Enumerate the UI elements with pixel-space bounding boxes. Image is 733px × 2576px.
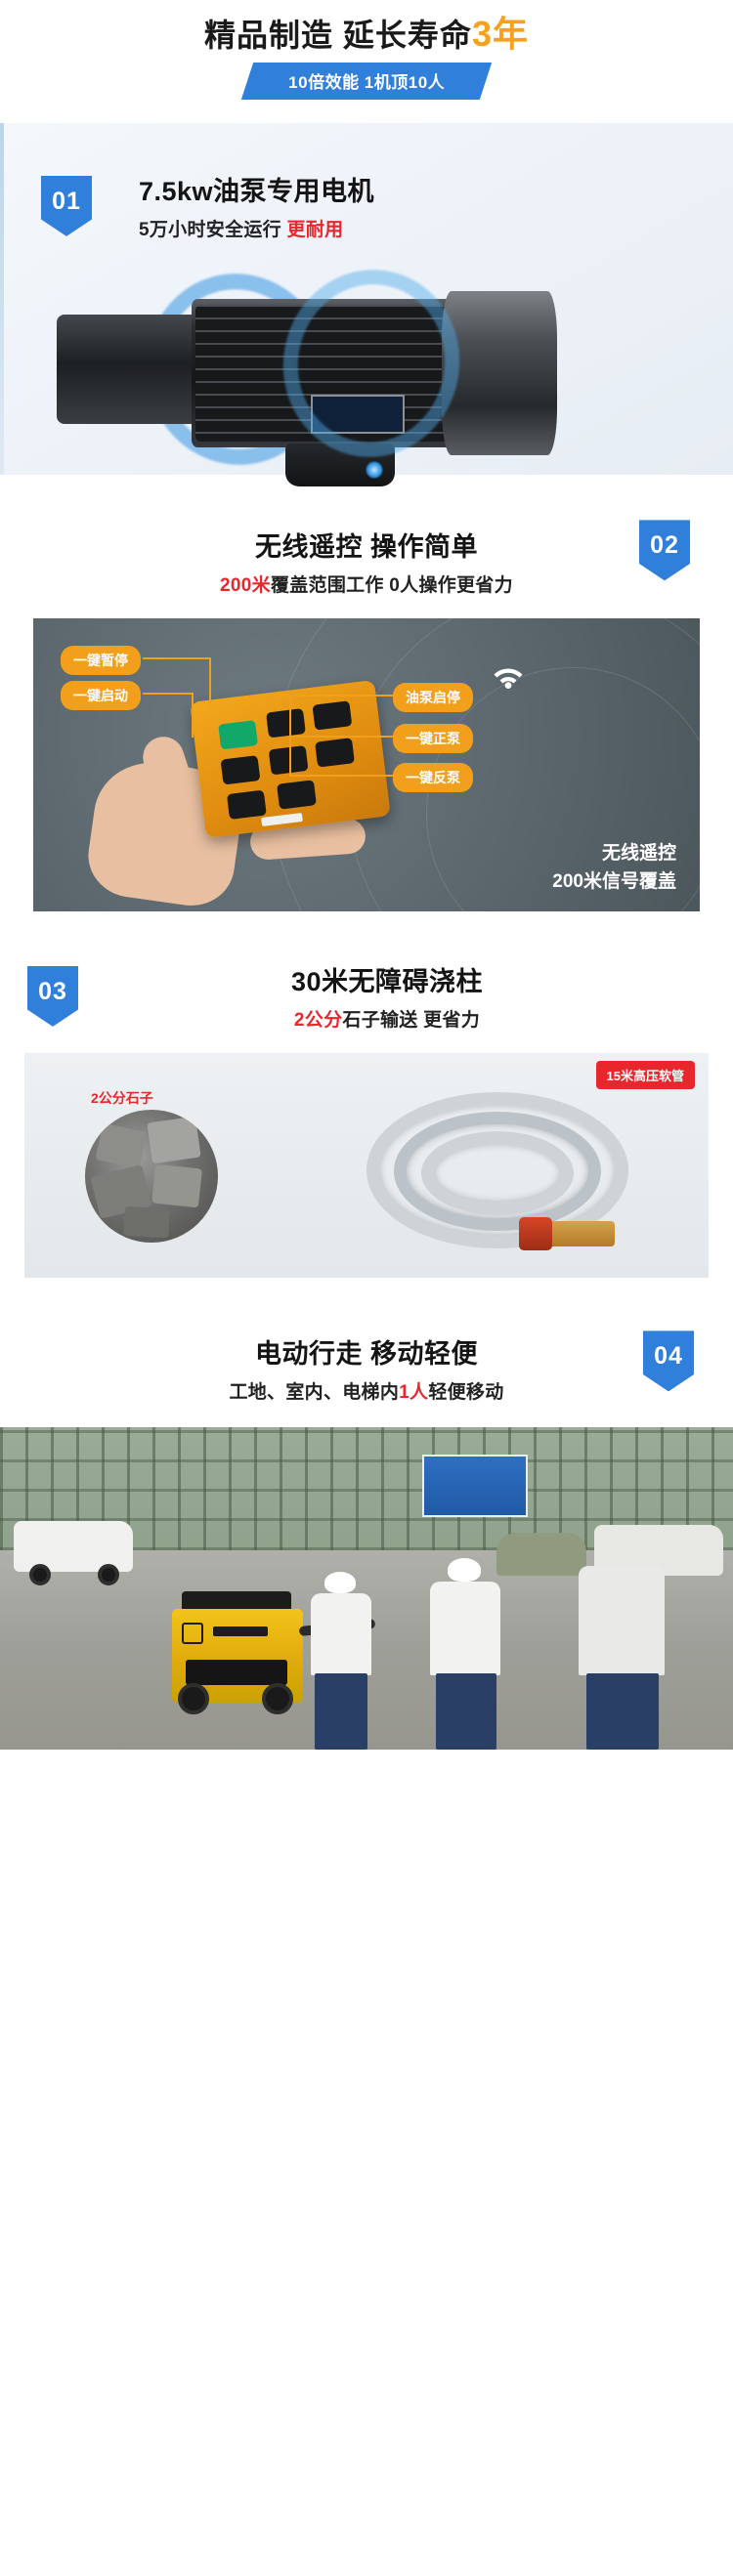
wifi-icon xyxy=(489,661,528,701)
worker-right-legs xyxy=(436,1673,496,1750)
callout-forward-pump: 一键正泵 xyxy=(393,724,473,753)
section-03-subtitle-accent: 2公分 xyxy=(294,1010,342,1031)
leader-v-right-group xyxy=(289,695,291,777)
remote-button-start[interactable] xyxy=(218,720,258,749)
section-04-subtitle-accent: 1人 xyxy=(399,1382,428,1403)
section-02-caption: 无线遥控 200米信号覆盖 xyxy=(552,840,676,896)
worker-helmet-center xyxy=(324,1572,356,1593)
hose-coupler-red xyxy=(519,1217,552,1250)
section-04-badge: 04 xyxy=(643,1330,694,1391)
callout-reverse-pump: 一键反泵 xyxy=(393,763,473,792)
section-03-text: 30米无障碍浇柱 2公分石子输送 更省力 xyxy=(119,960,733,1032)
pump-housing xyxy=(57,315,203,424)
section-02-badge-wrap: 02 xyxy=(639,520,690,580)
header-banner-wrap: 10倍效能 1机顶10人 xyxy=(0,63,733,100)
leader-line-pause xyxy=(143,657,211,659)
stone-4 xyxy=(151,1164,202,1208)
machine-warning-icon xyxy=(182,1623,203,1644)
worker-far-right-torso xyxy=(579,1566,665,1675)
stone-1 xyxy=(96,1123,148,1169)
section-01-head: 01 7.5kw油泵专用电机 5万小时安全运行 更耐用 xyxy=(0,123,733,241)
tag-stone-size: 2公分石子 xyxy=(91,1088,153,1108)
machine-label-strip xyxy=(213,1626,268,1636)
section-02: 02 无线遥控 操作简单 200米覆盖范围工作 0人操作更省力 xyxy=(0,526,733,911)
remote-button-pause[interactable] xyxy=(221,755,261,784)
leader-line-start xyxy=(143,693,194,695)
section-02-number: 02 xyxy=(650,531,679,560)
page-header: 精品制造 延长寿命3年 10倍效能 1机顶10人 xyxy=(0,0,733,100)
section-02-subtitle: 200米覆盖范围工作 0人操作更省力 xyxy=(0,570,733,597)
worker-center-legs xyxy=(315,1673,367,1750)
worksite-photo xyxy=(0,1427,733,1750)
stone-5 xyxy=(123,1206,170,1238)
remote-button-spare-3[interactable] xyxy=(277,781,317,810)
section-04-badge-wrap: 04 xyxy=(643,1330,694,1391)
section-03-subtitle-plain: 石子输送 更省力 xyxy=(342,1010,480,1031)
section-03-title: 30米无障碍浇柱 xyxy=(119,960,655,998)
page-title-accent: 3年 xyxy=(472,14,529,54)
coiled-hose xyxy=(337,1078,679,1254)
section-02-subtitle-accent: 200米 xyxy=(220,575,271,596)
section-04-subtitle: 工地、室内、电梯内1人轻便移动 xyxy=(0,1377,733,1404)
section-04-number: 04 xyxy=(654,1342,683,1371)
worker-helmet-right xyxy=(448,1558,481,1582)
section-02-title: 无线遥控 操作简单 xyxy=(0,526,733,564)
section-01-number: 01 xyxy=(52,188,81,216)
callout-pause: 一键暂停 xyxy=(61,646,141,675)
hose-photo: 15米高压软管 2公分石子 1 2 xyxy=(24,1053,709,1278)
stone-closeup: 1 2 xyxy=(85,1110,218,1243)
remote-control-photo: 一键暂停 一键启动 油泵启停 一键正泵 一键反泵 无线遥控 200米信号覆盖 xyxy=(33,618,700,911)
section-04-subtitle-plain-2: 轻便移动 xyxy=(428,1382,503,1403)
section-03-subtitle: 2公分石子输送 更省力 xyxy=(119,1005,655,1032)
section-03-number: 03 xyxy=(38,978,67,1006)
leader-line-forward xyxy=(289,736,397,738)
callout-pump-toggle: 油泵启停 xyxy=(393,683,473,712)
parked-van-left xyxy=(14,1521,133,1572)
hose-coil-inner xyxy=(421,1131,574,1215)
stone-2 xyxy=(147,1117,200,1164)
section-04-subtitle-plain-1: 工地、室内、电梯内 xyxy=(229,1382,399,1403)
leader-line-reverse xyxy=(289,775,397,777)
remote-button-spare-1[interactable] xyxy=(315,739,355,768)
motor-illustration xyxy=(0,270,733,475)
section-02-caption-line2: 200米信号覆盖 xyxy=(552,868,676,897)
section-03-head: 03 30米无障碍浇柱 2公分石子输送 更省力 xyxy=(0,960,733,1032)
machine-control-panel xyxy=(186,1660,287,1685)
section-04-title: 电动行走 移动轻便 xyxy=(0,1332,733,1371)
page-title-main: 精品制造 延长寿命 xyxy=(204,18,472,53)
section-04: 04 电动行走 移动轻便 工地、室内、电梯内1人轻便移动 xyxy=(0,1332,733,1750)
site-billboard xyxy=(422,1455,528,1517)
section-01-subtitle-plain: 5万小时安全运行 xyxy=(139,220,287,240)
tarp-pile xyxy=(496,1533,586,1576)
section-02-caption-line1: 无线遥控 xyxy=(552,840,676,868)
leader-v-start xyxy=(192,693,194,738)
header-banner-label: 10倍效能 1机顶10人 xyxy=(288,68,445,93)
worker-right-torso xyxy=(430,1582,500,1675)
remote-button-pump-toggle[interactable] xyxy=(266,708,306,738)
page-title: 精品制造 延长寿命3年 xyxy=(0,14,733,54)
section-01-subtitle: 5万小时安全运行 更耐用 xyxy=(139,215,374,241)
section-02-badge: 02 xyxy=(639,520,690,580)
worker-center-torso xyxy=(311,1593,371,1675)
remote-button-forward[interactable] xyxy=(312,701,352,731)
callout-start: 一键启动 xyxy=(61,681,141,710)
worker-far-right-legs xyxy=(586,1673,659,1750)
section-03: 03 30米无障碍浇柱 2公分石子输送 更省力 15米高压软管 2公分石子 1 … xyxy=(0,960,733,1278)
section-01-badge: 01 xyxy=(41,176,92,236)
remote-button-spare-2[interactable] xyxy=(227,790,267,820)
leader-line-pump xyxy=(278,695,393,697)
section-01-text: 7.5kw油泵专用电机 5万小时安全运行 更耐用 xyxy=(139,170,374,241)
section-01: 01 7.5kw油泵专用电机 5万小时安全运行 更耐用 xyxy=(0,123,733,475)
section-01-subtitle-accent: 更耐用 xyxy=(287,220,344,240)
leader-v-pause xyxy=(209,657,211,708)
motor-rear-cap xyxy=(442,291,557,455)
section-02-subtitle-plain: 覆盖范围工作 0人操作更省力 xyxy=(271,575,513,596)
section-01-title: 7.5kw油泵专用电机 xyxy=(139,170,374,208)
section-03-badge: 03 xyxy=(27,966,78,1027)
remote-label-strip xyxy=(261,813,303,826)
header-banner: 10倍效能 1机顶10人 xyxy=(241,63,492,100)
